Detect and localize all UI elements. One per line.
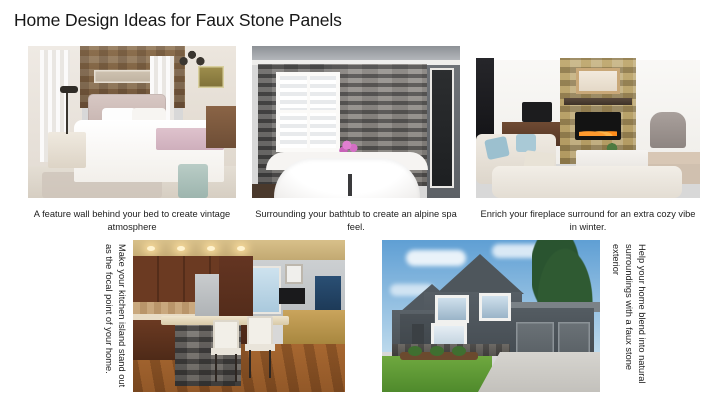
bathroom-stone-wall-corner-tub-photo[interactable] (252, 46, 460, 198)
exterior-shrub (408, 346, 422, 356)
exterior-shrub (430, 346, 444, 356)
page-title: Home Design Ideas for Faux Stone Panels (14, 10, 342, 31)
bedroom-nightstand (48, 132, 86, 168)
kitchen-bar-stool (211, 320, 245, 382)
kitchen-ceiling-light (177, 246, 185, 251)
exterior-window (438, 298, 466, 320)
caption-kitchen: Make your kitchen island stand out as th… (88, 244, 128, 392)
kitchen-wall-art (285, 264, 303, 284)
bedroom-chandelier-icon (178, 50, 206, 66)
exterior-garage-door (558, 322, 590, 354)
caption-fireplace: Enrich your fireplace surround for an ex… (476, 208, 700, 234)
bedroom-wall-art (198, 66, 224, 88)
stool-leg (235, 354, 237, 382)
kitchen-stone-island-photo[interactable] (133, 240, 345, 392)
livingroom-blue-pillow (516, 134, 536, 152)
stool-back (213, 320, 239, 350)
caption-bedroom: A feature wall behind your bed to create… (28, 208, 236, 234)
exterior-shrub (452, 346, 466, 356)
bedroom-lamp (66, 88, 68, 134)
bathroom-window-mullion (280, 110, 336, 113)
caption-exterior: Help your home blend into natural surrou… (608, 244, 648, 392)
house-exterior-stone-accent-photo[interactable] (382, 240, 600, 392)
bathroom-faucet (348, 174, 352, 196)
bedroom-dresser (206, 106, 236, 148)
kitchen-ceiling-light (207, 246, 215, 251)
stool-leg (215, 354, 217, 382)
kitchen-distant-fireplace (279, 288, 305, 304)
livingroom-tv (522, 102, 552, 122)
livingroom-accent-chair (650, 112, 686, 148)
livingroom-mantel (564, 98, 632, 105)
kitchen-ceiling-light (147, 246, 155, 251)
exterior-window (482, 296, 508, 318)
bedroom-stone-accent-wall-photo[interactable] (28, 46, 236, 198)
kitchen-ceiling-light (237, 246, 245, 251)
kitchen-distant-tv (315, 276, 341, 310)
bedroom-lamp-shade (60, 86, 78, 93)
exterior-garage-door (516, 322, 554, 354)
livingroom-dark-doorway (476, 58, 494, 140)
bathroom-corner-tub (274, 158, 420, 198)
stool-leg (269, 350, 271, 378)
kitchen-bar-stool (245, 316, 277, 374)
livingroom-flame (579, 128, 617, 136)
kitchen-right-counter (283, 310, 345, 344)
bathroom-doorway (430, 68, 454, 188)
stool-back (247, 316, 273, 346)
bedroom-stool (178, 164, 208, 198)
living-room-stone-fireplace-photo[interactable] (476, 46, 700, 198)
livingroom-sofa-front (492, 166, 682, 198)
stool-leg (249, 350, 251, 378)
slide-canvas: Home Design Ideas for Faux Stone Panels (0, 0, 728, 400)
exterior-driveway (478, 352, 600, 392)
exterior-lawn (382, 356, 492, 392)
livingroom-framed-mirror (576, 68, 620, 94)
kitchen-window (251, 266, 281, 314)
caption-bathroom: Surrounding your bathtub to create an al… (252, 208, 460, 234)
